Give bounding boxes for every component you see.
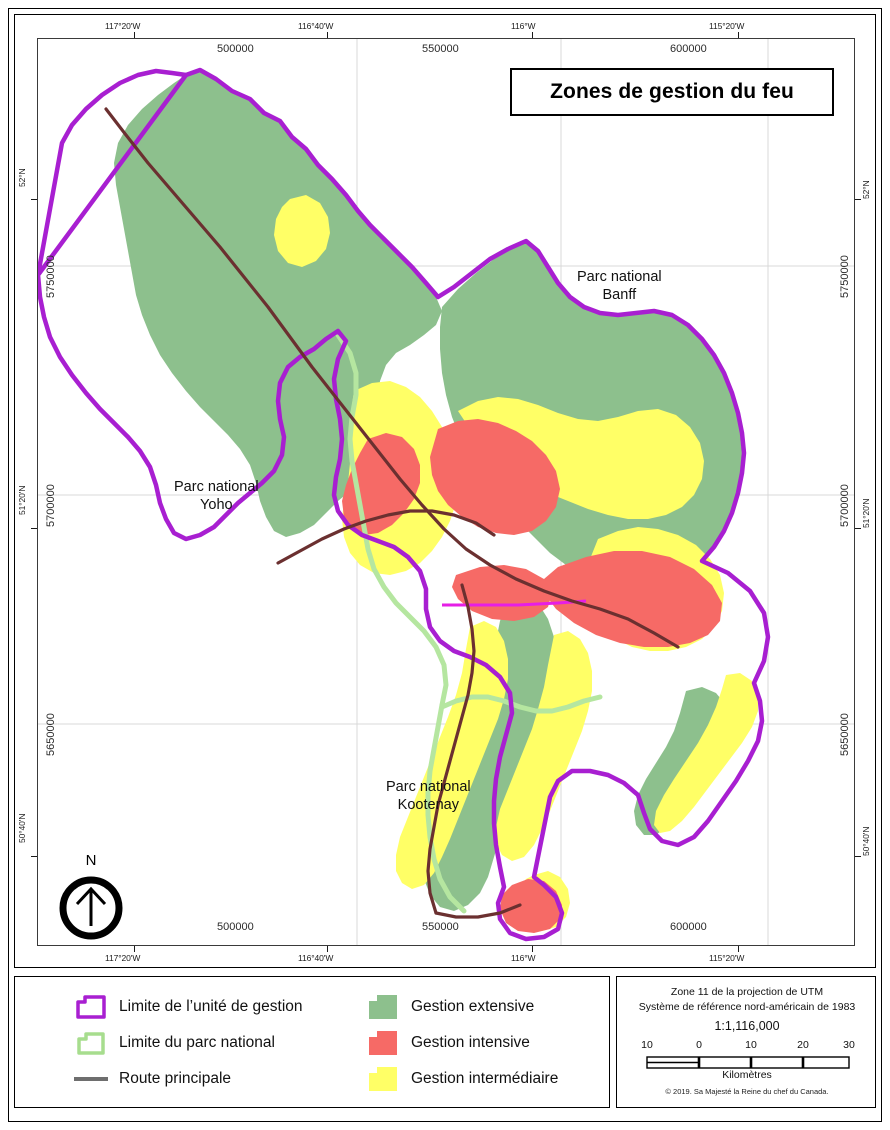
utm-northing-left-0: 5750000 (45, 255, 57, 298)
scale-label-1: 0 (696, 1039, 702, 1051)
lat-tick-right-0 (855, 199, 861, 200)
scale-label-2: 10 (745, 1039, 757, 1051)
legend-item-gestion-intermediaire[interactable]: Gestion intermédiaire (365, 1061, 558, 1097)
legend-label-limite-unite-gestion: Limite de l’unité de gestion (119, 998, 303, 1016)
lon-tick-bot-0 (134, 946, 135, 952)
map-page: 117°20'W 116°40'W 116°W 115°20'W 117°20'… (0, 0, 890, 1130)
park-label-kootenay: Parc national Kootenay (386, 778, 471, 814)
lat-label-left-1: 51°20'N (17, 486, 27, 515)
utm-easting-bot-1: 550000 (422, 921, 459, 933)
legend-item-limite-parc-national[interactable]: Limite du parc national (73, 1025, 303, 1061)
scale-label-0: 10 (641, 1039, 653, 1051)
green-swatch-icon (365, 993, 401, 1021)
yellow-swatch-icon (365, 1065, 401, 1093)
legend-item-limite-unite-gestion[interactable]: Limite de l’unité de gestion (73, 989, 303, 1025)
scale-label-4: 30 (843, 1039, 855, 1051)
road-line-icon (73, 1065, 109, 1093)
zone-intensive-connector (452, 565, 552, 621)
utm-easting-bot-2: 600000 (670, 921, 707, 933)
lon-label-bot-2: 116°W (511, 953, 535, 963)
legend-panel: Limite de l’unité de gestion Limite du p… (14, 976, 610, 1108)
scale-label-3: 20 (797, 1039, 809, 1051)
legend-item-route-principale[interactable]: Route principale (73, 1061, 303, 1097)
utm-northing-right-2: 5650000 (839, 713, 851, 756)
utm-northing-right-0: 5750000 (839, 255, 851, 298)
lon-tick-bot-2 (532, 946, 533, 952)
park-label-banff-line2: Banff (577, 286, 662, 304)
park-label-kootenay-line1: Parc national (386, 778, 471, 796)
park-label-yoho-line2: Yoho (174, 496, 259, 514)
north-arrow: N (55, 852, 127, 944)
projection-info: Zone 11 de la projection de UTM Système … (617, 985, 877, 1015)
park-label-banff: Parc national Banff (577, 268, 662, 304)
red-swatch-icon (365, 1029, 401, 1057)
lon-label-bot-1: 116°40'W (298, 953, 333, 963)
lon-label-top-1: 116°40'W (298, 21, 333, 31)
lon-label-bot-3: 115°20'W (709, 953, 744, 963)
unit-boundary-icon (73, 993, 109, 1021)
lat-label-right-0: 52°N (861, 180, 871, 199)
lon-tick-bot-3 (738, 946, 739, 952)
legend-label-gestion-intensive: Gestion intensive (411, 1034, 530, 1052)
legend-label-gestion-extensive: Gestion extensive (411, 998, 534, 1016)
projection-line-1: Zone 11 de la projection de UTM (617, 985, 877, 1000)
legend-item-gestion-intensive[interactable]: Gestion intensive (365, 1025, 558, 1061)
lon-label-top-3: 115°20'W (709, 21, 744, 31)
lon-label-top-0: 117°20'W (105, 21, 140, 31)
park-boundary-icon (73, 1029, 109, 1057)
utm-northing-right-1: 5700000 (839, 484, 851, 527)
park-label-yoho: Parc national Yoho (174, 478, 259, 514)
utm-northing-left-1: 5700000 (45, 484, 57, 527)
lon-tick-bot-1 (327, 946, 328, 952)
map-title: Zones de gestion du feu (550, 80, 794, 104)
lon-label-top-2: 116°W (511, 21, 535, 31)
lon-label-bot-0: 117°20'W (105, 953, 140, 963)
map-panel: 117°20'W 116°40'W 116°W 115°20'W 117°20'… (14, 14, 876, 968)
park-label-banff-line1: Parc national (577, 268, 662, 286)
lat-label-right-1: 51°20'N (861, 499, 871, 528)
scale-ratio: 1:1,116,000 (617, 1019, 877, 1033)
legend-label-gestion-intermediaire: Gestion intermédiaire (411, 1070, 558, 1088)
legend-label-route-principale: Route principale (119, 1070, 231, 1088)
utm-easting-top-1: 550000 (422, 43, 459, 55)
legend-label-limite-parc-national: Limite du parc national (119, 1034, 275, 1052)
utm-northing-left-2: 5650000 (45, 713, 57, 756)
lat-label-left-0: 52°N (17, 168, 27, 187)
scale-bar-labels: 10 0 10 20 30 (639, 1039, 855, 1053)
compass-icon (55, 872, 127, 944)
map-title-box: Zones de gestion du feu (510, 68, 834, 116)
lat-tick-right-2 (855, 856, 861, 857)
park-label-kootenay-line2: Kootenay (386, 796, 471, 814)
lat-label-right-2: 50°40'N (861, 827, 871, 856)
utm-easting-top-2: 600000 (670, 43, 707, 55)
lat-tick-right-1 (855, 528, 861, 529)
north-arrow-label: N (55, 852, 127, 869)
scale-bar-unit: Kilomètres (639, 1069, 855, 1081)
utm-easting-bot-0: 500000 (217, 921, 254, 933)
info-panel: Zone 11 de la projection de UTM Système … (616, 976, 876, 1108)
scale-bar: 10 0 10 20 30 Kilomètres (639, 1039, 855, 1071)
map-canvas[interactable]: Parc national Banff Parc national Yoho P… (37, 38, 855, 946)
park-label-yoho-line1: Parc national (174, 478, 259, 496)
copyright-notice: © 2019. Sa Majesté la Reine du chef du C… (617, 1087, 877, 1096)
legend-column-zones: Gestion extensive Gestion intensive Gest… (365, 989, 558, 1097)
projection-line-2: Système de référence nord-américain de 1… (617, 1000, 877, 1015)
utm-easting-top-0: 500000 (217, 43, 254, 55)
lat-label-left-2: 50°40'N (17, 814, 27, 843)
legend-column-symbols: Limite de l’unité de gestion Limite du p… (73, 989, 303, 1097)
legend-item-gestion-extensive[interactable]: Gestion extensive (365, 989, 558, 1025)
